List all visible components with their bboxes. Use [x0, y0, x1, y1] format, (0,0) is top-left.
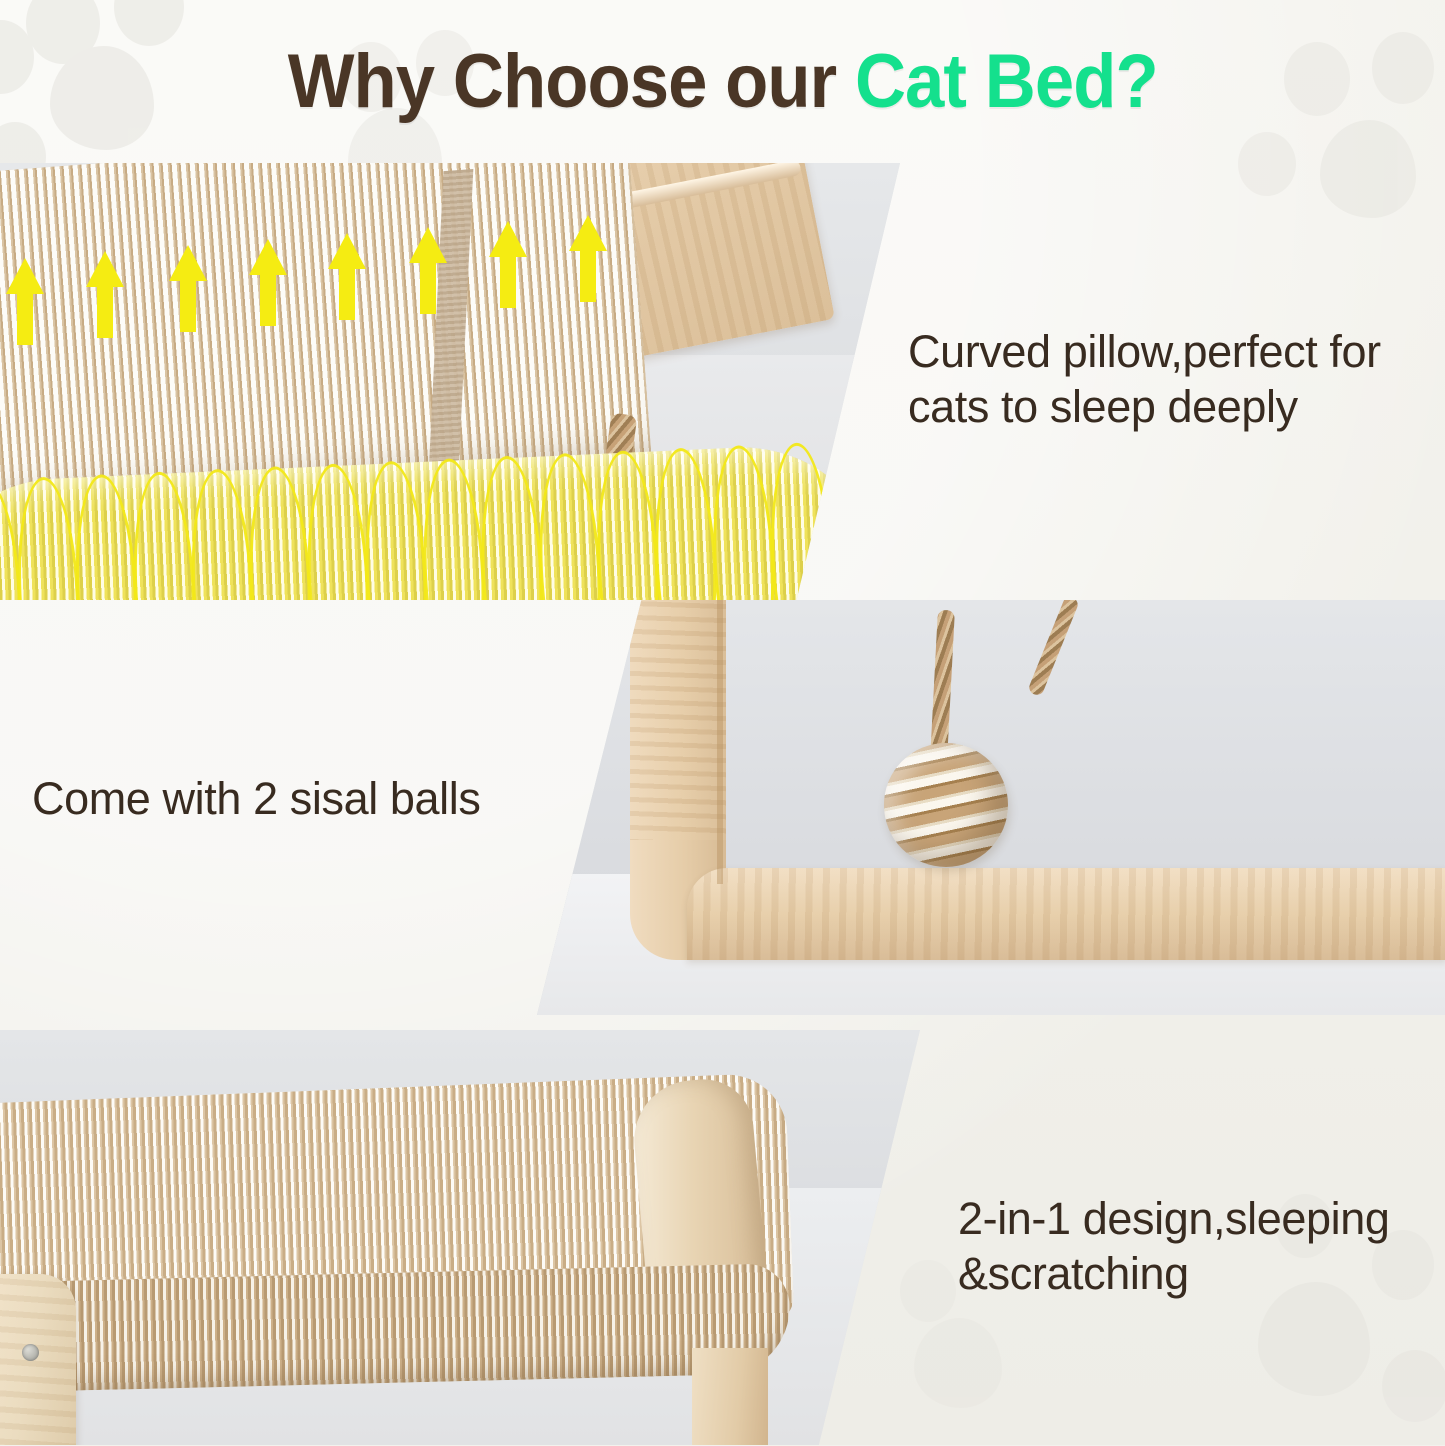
wooden-leg-right [692, 1348, 768, 1445]
page-title: Why Choose our Cat Bed? [288, 44, 1158, 120]
feature-caption-two-in-one: 2-in-1 design,sleeping &scratching [958, 1192, 1438, 1302]
woven-sisal-bed-front [0, 1263, 791, 1393]
title-part-2: Cat Bed? [855, 39, 1158, 124]
wooden-side-panel-left [0, 1274, 76, 1445]
feature-photo-two-in-one [0, 1030, 920, 1445]
wooden-leg-horizontal [687, 868, 1445, 960]
title-part-1: Why Choose our [288, 39, 855, 124]
feature-photo-curved-pillow [0, 163, 900, 600]
feature-caption-curved-pillow: Curved pillow,perfect for cats to sleep … [908, 325, 1438, 435]
feature-caption-sisal-balls: Come with 2 sisal balls [32, 772, 552, 827]
title-bar: Why Choose our Cat Bed? [0, 26, 1445, 138]
sisal-ball [884, 743, 1008, 867]
screw-icon [22, 1344, 39, 1361]
wooden-leg-seam [717, 600, 723, 884]
feature-photo-sisal-balls [537, 600, 1445, 1015]
infographic-page: Why Choose our Cat Bed? [0, 0, 1445, 1445]
